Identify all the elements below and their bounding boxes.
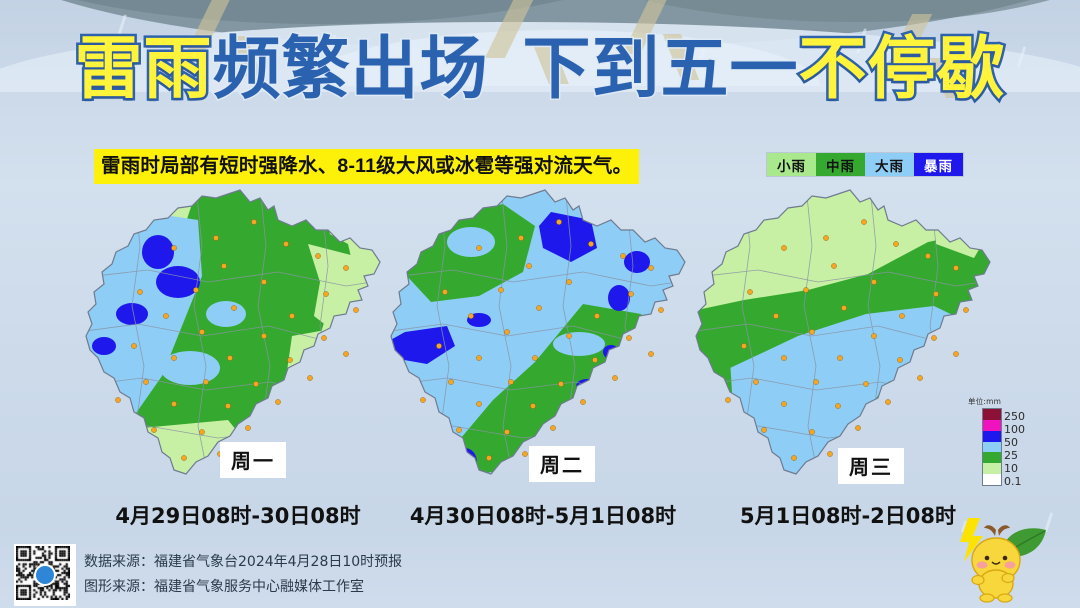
legend-chip-zhongyu: 中雨 <box>816 153 865 176</box>
colorbar-tick-100: 100 <box>1004 423 1025 436</box>
colorbar-swatch-250 <box>983 409 1001 420</box>
colorbar-tick-10: 10 <box>1004 462 1018 475</box>
legend-chip-baoyu: 暴雨 <box>914 153 963 176</box>
qr-center-logo-icon <box>34 564 56 586</box>
day-badge-wednesday: 周三 <box>838 448 904 484</box>
forecast-map-tuesday: 周二 <box>383 186 703 486</box>
day-badge-monday: 周一 <box>220 442 286 478</box>
title-part-xiadao: 下到五一 <box>523 30 799 109</box>
legend-chip-xiaoyu: 小雨 <box>767 153 816 176</box>
page-title: 雷雨频繁出场下到五一不停歇 <box>0 36 1080 104</box>
colorbar-swatch-blank <box>983 474 1001 485</box>
colorbar-tick-25: 25 <box>1004 449 1018 462</box>
colorbar-swatch-0.1 <box>983 463 1001 474</box>
colorbar-tick-0.1: 0.1 <box>1004 475 1022 488</box>
colorbar-tick-50: 50 <box>1004 436 1018 449</box>
forecast-map-wednesday: 周三 <box>688 186 1008 486</box>
poster-canvas: 雷雨频繁出场下到五一不停歇 雷雨时局部有短时强降水、8-11级大风或冰雹等强对流… <box>0 0 1080 608</box>
rainfall-colorbar <box>982 408 1002 486</box>
colorbar-ticks: 250 100 50 25 10 0.1 <box>1004 402 1044 488</box>
colorbar-swatch-10 <box>983 452 1001 463</box>
colorbar-unit-label: 单位:mm <box>968 396 1001 407</box>
subtitle-banner: 雷雨时局部有短时强降水、8-11级大风或冰雹等强对流天气。 <box>94 149 639 184</box>
colorbar-swatch-50 <box>983 431 1001 442</box>
forecast-map-monday: 周一 <box>78 186 398 486</box>
day-badge-tuesday: 周二 <box>529 446 595 482</box>
qr-code[interactable] <box>14 544 76 606</box>
fujian-map-svg-1 <box>78 186 398 486</box>
fujian-map-svg-3 <box>688 186 1008 486</box>
colorbar-swatch-25 <box>983 442 1001 453</box>
legend-chip-dayu: 大雨 <box>865 153 914 176</box>
colorbar-swatch-100 <box>983 420 1001 431</box>
title-part-leiyu: 雷雨 <box>74 30 212 109</box>
fujian-map-svg-2 <box>383 186 703 486</box>
title-part-pinfan: 频繁出场 <box>212 30 488 109</box>
data-source-text: 数据来源：福建省气象台2024年4月28日10时预报 <box>84 551 402 571</box>
graphic-source-text: 图形来源：福建省气象服务中心融媒体工作室 <box>84 576 364 596</box>
title-part-butingxie: 不停歇 <box>799 30 1006 109</box>
colorbar-tick-250: 250 <box>1004 410 1025 423</box>
rain-legend: 小雨 中雨 大雨 暴雨 <box>766 152 964 177</box>
rain-mascot <box>946 516 1056 608</box>
